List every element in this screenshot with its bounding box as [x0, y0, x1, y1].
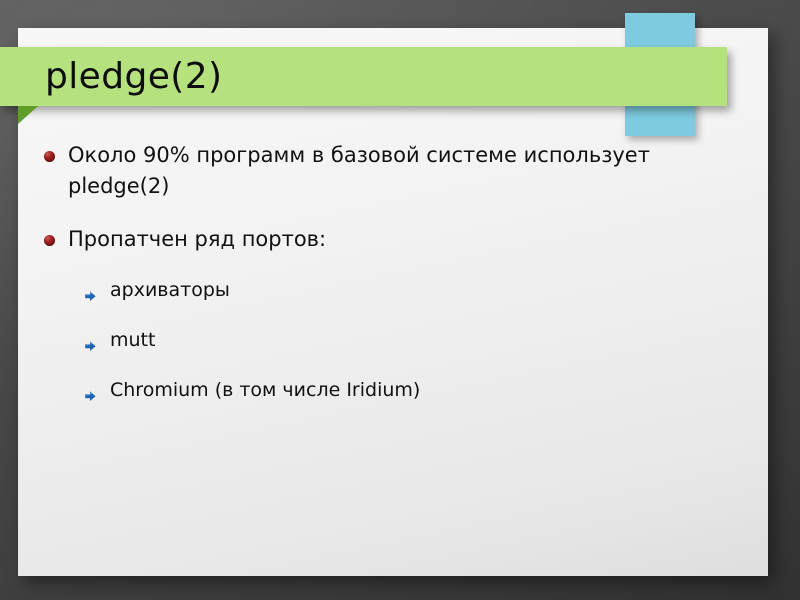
list-item: mutt [80, 327, 730, 354]
red-sphere-bullet-icon [44, 235, 55, 246]
list-item: Chromium (в том числе Iridium) [80, 377, 730, 404]
list-item: Пропатчен ряд портов: [40, 224, 730, 255]
slide-body: Около 90% программ в базовой системе исп… [40, 140, 730, 427]
bullet-text: Chromium (в том числе Iridium) [110, 379, 420, 401]
slide-viewport: pledge(2) Около 90% программ в базовой с… [0, 0, 800, 600]
bullet-text: mutt [110, 329, 155, 351]
slide-title: pledge(2) [45, 47, 222, 106]
bullet-text: архиваторы [110, 279, 230, 301]
bullet-text: Около 90% программ в базовой системе исп… [68, 143, 650, 198]
sub-bullet-list: архиваторы mutt Chromi [80, 277, 730, 404]
bullet-text: Пропатчен ряд портов: [68, 227, 326, 251]
banner-fold-corner [18, 106, 38, 124]
blue-dart-bullet-icon [84, 284, 97, 297]
blue-dart-bullet-icon [84, 334, 97, 347]
list-item: Около 90% программ в базовой системе исп… [40, 140, 730, 202]
red-sphere-bullet-icon [44, 151, 55, 162]
list-item: архиваторы [80, 277, 730, 304]
blue-dart-bullet-icon [84, 384, 97, 397]
